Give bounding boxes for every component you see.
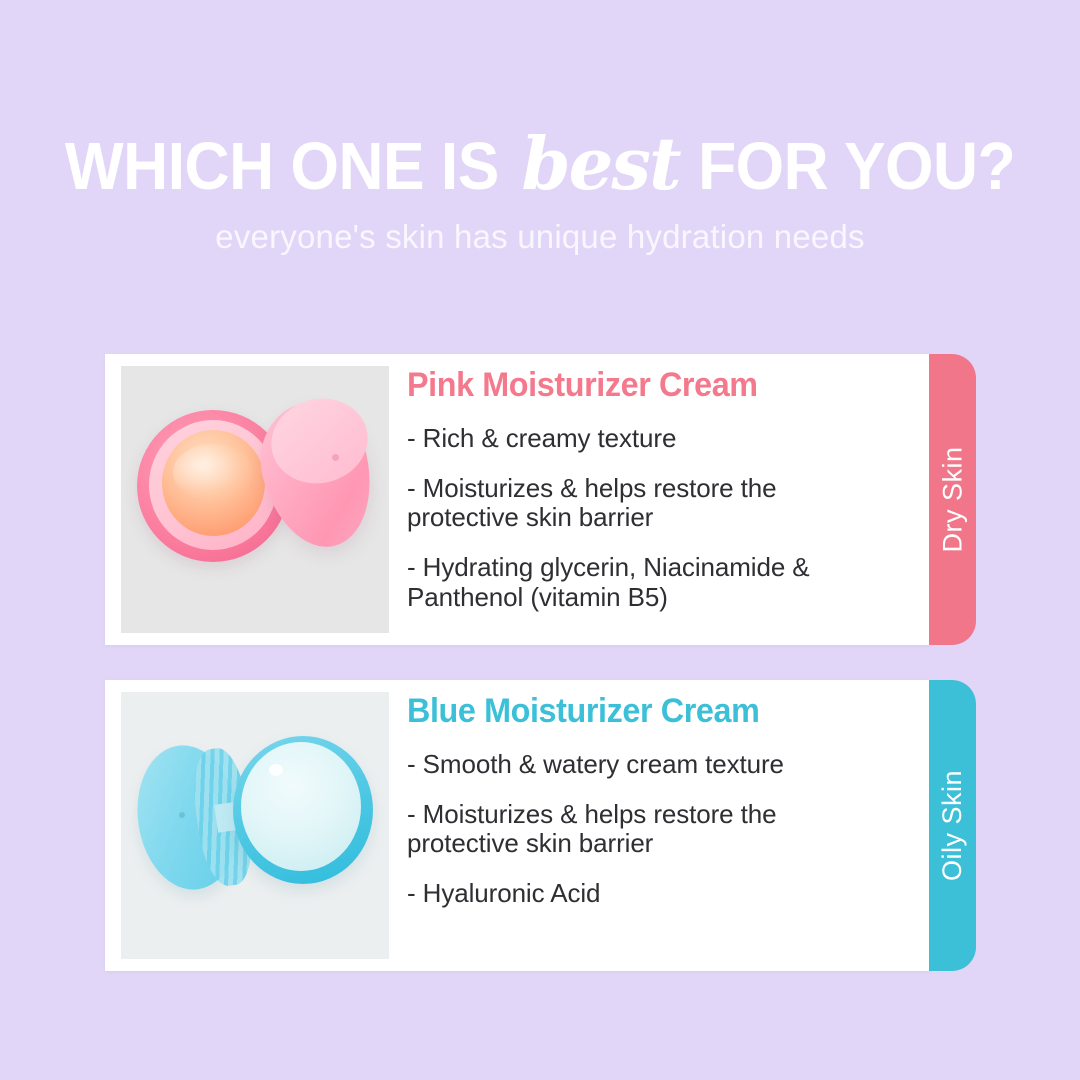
skin-type-tab-label: Oily Skin	[937, 770, 968, 881]
blue-jar-lid-dot	[179, 812, 185, 818]
product-card-blue[interactable]: Blue Moisturizer Cream - Smooth & watery…	[105, 680, 930, 971]
product-bullet: - Rich & creamy texture	[407, 424, 882, 454]
product-photo-pink	[121, 366, 389, 633]
product-card-pink[interactable]: Pink Moisturizer Cream - Rich & creamy t…	[105, 354, 930, 645]
skin-type-tab-label: Dry Skin	[937, 446, 968, 552]
blue-gel-bubble	[269, 764, 283, 776]
product-title-pink: Pink Moisturizer Cream	[407, 368, 904, 404]
skin-type-tab-oily[interactable]: Oily Skin	[929, 680, 976, 971]
page-subtitle: everyone's skin has unique hydration nee…	[0, 218, 1080, 256]
product-bullet: - Moisturizes & helps restore the protec…	[407, 800, 882, 860]
product-bullet: - Moisturizes & helps restore the protec…	[407, 474, 882, 534]
title-text-after: FOR YOU?	[698, 129, 1015, 204]
page-title: WHICH ONE IS best FOR YOU?	[38, 128, 1042, 200]
product-title-blue: Blue Moisturizer Cream	[407, 694, 904, 730]
pink-jar-lid-dot	[332, 454, 339, 461]
page-header: WHICH ONE IS best FOR YOU? everyone's sk…	[0, 128, 1080, 256]
skin-type-tab-dry[interactable]: Dry Skin	[929, 354, 976, 645]
product-bullet: - Hydrating glycerin, Niacinamide & Pant…	[407, 553, 882, 613]
title-text-before: WHICH ONE IS	[65, 129, 499, 204]
pink-cream-highlight	[173, 444, 253, 500]
product-info-blue: Blue Moisturizer Cream - Smooth & watery…	[389, 680, 930, 929]
product-photo-blue	[121, 692, 389, 959]
product-bullet: - Hyaluronic Acid	[407, 879, 882, 909]
product-info-pink: Pink Moisturizer Cream - Rich & creamy t…	[389, 354, 930, 633]
title-script-word: best	[512, 128, 686, 200]
product-bullet: - Smooth & watery cream texture	[407, 750, 882, 780]
blue-gel-surface	[241, 742, 361, 871]
